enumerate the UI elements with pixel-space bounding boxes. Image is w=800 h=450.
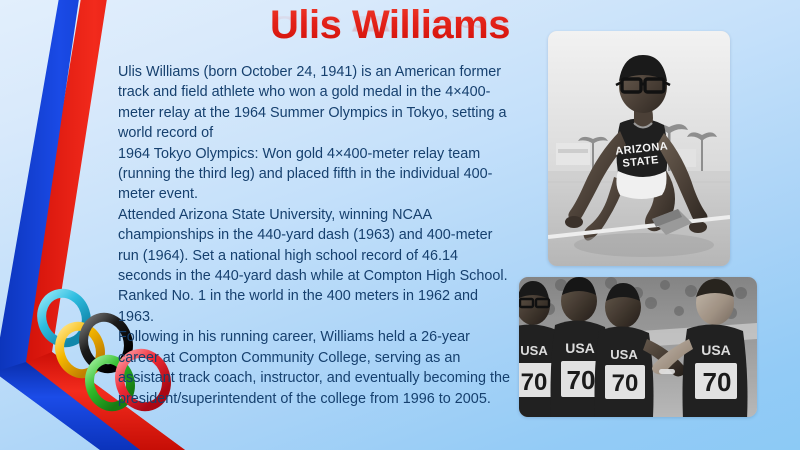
yellow-ring xyxy=(54,321,107,379)
page-title-reflection: Ulis Williams xyxy=(210,11,570,36)
body-paragraph-4: Following in his running career, William… xyxy=(118,327,514,409)
photo-runner: ARIZONA STATE xyxy=(548,31,730,266)
photo-relay-team: USA 70 USA 70 USA 70 xyxy=(519,277,757,417)
presentation-slide: Ulis Williams Ulis Williams Ulis William… xyxy=(0,0,800,450)
body-paragraph-2: 1964 Tokyo Olympics: Won gold 4×400-mete… xyxy=(118,144,514,205)
body-paragraph-3: Attended Arizona State University, winni… xyxy=(118,205,514,327)
blue-ring xyxy=(35,288,92,349)
body-paragraph-1: Ulis Williams (born October 24, 1941) is… xyxy=(118,62,514,144)
title-block: Ulis Williams Ulis Williams xyxy=(210,2,570,64)
body-text-block: Ulis Williams (born October 24, 1941) is… xyxy=(118,62,514,409)
